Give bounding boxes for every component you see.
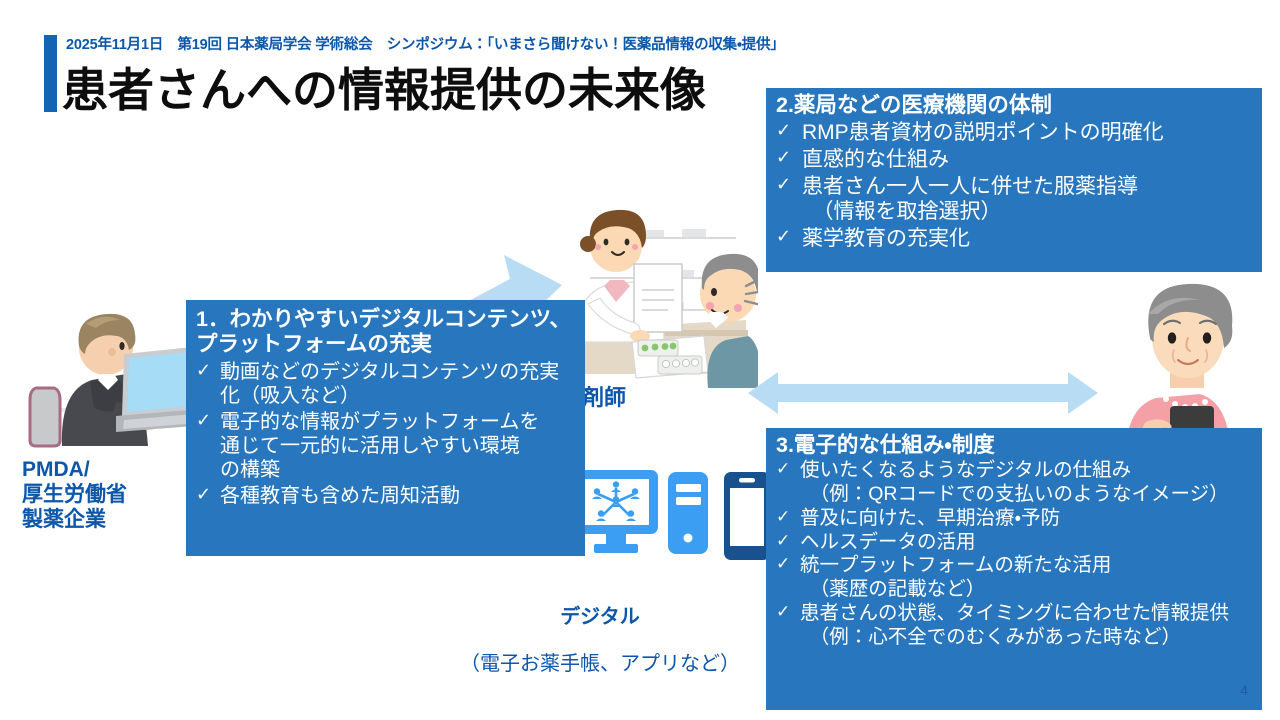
arrow-double-horizontal-icon xyxy=(748,368,1098,418)
content-box-electronic-system: 3.電子的な仕組み・制度 ✓ 使いたくなるようなデジタルの仕組み （例：QRコー… xyxy=(766,428,1262,710)
check-icon: ✓ xyxy=(776,147,802,169)
check-icon: ✓ xyxy=(776,602,800,623)
check-icon: ✓ xyxy=(776,174,802,196)
box3-list: ✓ 使いたくなるようなデジタルの仕組み （例：QRコードでの支払いのようなイメー… xyxy=(776,459,1256,649)
list-item: ✓ 普及に向けた、早期治療・予防 xyxy=(776,507,1256,531)
list-item: ✓ 患者さん一人一人に併せた服薬指導 （情報を取捨選択） xyxy=(776,174,1254,225)
check-icon: ✓ xyxy=(776,554,800,575)
box1-title: 1．わかりやすいデジタルコンテンツ、プラットフォームの充実 xyxy=(196,307,577,358)
label-digital: デジタル （電子お薬手帳、アプリなど） xyxy=(430,582,770,700)
list-item: ✓ 統一プラットフォームの新たな活用 （薬歴の記載など） xyxy=(776,554,1256,602)
list-item-label: 電子的な情報がプラットフォームを 通じて一元的に活用しやすい環境 の構築 xyxy=(220,410,577,483)
list-item: ✓ 電子的な情報がプラットフォームを 通じて一元的に活用しやすい環境 の構築 xyxy=(196,410,577,483)
slide-kicker: 2025年11月1日 第19回 日本薬局学会 学術総会 シンポジウム：「いまさら… xyxy=(66,33,785,54)
content-box-digital-contents: 1．わかりやすいデジタルコンテンツ、プラットフォームの充実 ✓ 動画などのデジタ… xyxy=(186,300,585,556)
page-title: 患者さんへの情報提供の未来像 xyxy=(62,54,706,120)
list-item-label: 使いたくなるようなデジタルの仕組み （例：QRコードでの支払いのようなイメージ） xyxy=(800,459,1256,507)
list-item: ✓ RMP患者資材の説明ポイントの明確化 xyxy=(776,120,1254,146)
label-digital-sub: （電子お薬手帳、アプリなど） xyxy=(430,653,770,677)
page-number: 4 xyxy=(1240,682,1248,698)
label-pmda: PMDA/ 厚生労働省 製薬企業 xyxy=(22,458,182,532)
list-item: ✓ 薬学教育の充実化 xyxy=(776,226,1254,252)
check-icon: ✓ xyxy=(196,360,220,382)
box3-title: 3.電子的な仕組み・制度 xyxy=(776,433,1256,458)
list-item-label: 統一プラットフォームの新たな活用 （薬歴の記載など） xyxy=(800,554,1256,602)
list-item-label: 直感的な仕組み xyxy=(802,147,1254,173)
label-digital-main: デジタル xyxy=(430,606,770,630)
content-box-pharmacy-system: 2.薬局などの医療機関の体制 ✓ RMP患者資材の説明ポイントの明確化 ✓ 直感… xyxy=(766,88,1262,272)
box2-title: 2.薬局などの医療機関の体制 xyxy=(776,93,1254,118)
list-item-label: RMP患者資材の説明ポイントの明確化 xyxy=(802,120,1254,146)
check-icon: ✓ xyxy=(776,120,802,142)
check-icon: ✓ xyxy=(776,507,800,528)
label-pharmacist: 薬剤師 xyxy=(560,385,740,411)
smartphone-icon xyxy=(724,472,770,560)
list-item: ✓ 各種教育も含めた周知活動 xyxy=(196,484,577,508)
list-item: ✓ 患者さんの状態、タイミングに合わせた情報提供 （例：心不全でのむくみがあった… xyxy=(776,602,1256,650)
list-item-label: 薬学教育の充実化 xyxy=(802,226,1254,252)
check-icon: ✓ xyxy=(196,484,220,506)
list-item-label: 動画などのデジタルコンテンツの充実 化（吸入など） xyxy=(220,360,577,409)
list-item-label: 患者さんの状態、タイミングに合わせた情報提供 （例：心不全でのむくみがあった時な… xyxy=(800,602,1256,650)
list-item: ✓ 直感的な仕組み xyxy=(776,147,1254,173)
pc-tower-icon xyxy=(668,472,708,554)
check-icon: ✓ xyxy=(196,410,220,432)
list-item: ✓ 動画などのデジタルコンテンツの充実 化（吸入など） xyxy=(196,360,577,409)
check-icon: ✓ xyxy=(776,459,800,480)
list-item-label: ヘルスデータの活用 xyxy=(800,531,1256,555)
check-icon: ✓ xyxy=(776,531,800,552)
title-accent-bar xyxy=(44,35,57,112)
monitor-pc-smartphone-icons xyxy=(572,466,772,578)
box1-list: ✓ 動画などのデジタルコンテンツの充実 化（吸入など） ✓ 電子的な情報がプラッ… xyxy=(196,360,577,508)
check-icon: ✓ xyxy=(776,226,802,248)
slide-canvas: 2025年11月1日 第19回 日本薬局学会 学術総会 シンポジウム：「いまさら… xyxy=(0,0,1280,720)
list-item-label: 患者さん一人一人に併せた服薬指導 （情報を取捨選択） xyxy=(802,174,1254,225)
list-item-label: 普及に向けた、早期治療・予防 xyxy=(800,507,1256,531)
list-item: ✓ ヘルスデータの活用 xyxy=(776,531,1256,555)
monitor-network-icon xyxy=(574,470,658,553)
box2-list: ✓ RMP患者資材の説明ポイントの明確化 ✓ 直感的な仕組み ✓ 患者さん一人一… xyxy=(776,120,1254,251)
list-item: ✓ 使いたくなるようなデジタルの仕組み （例：QRコードでの支払いのようなイメー… xyxy=(776,459,1256,507)
list-item-label: 各種教育も含めた周知活動 xyxy=(220,484,577,508)
